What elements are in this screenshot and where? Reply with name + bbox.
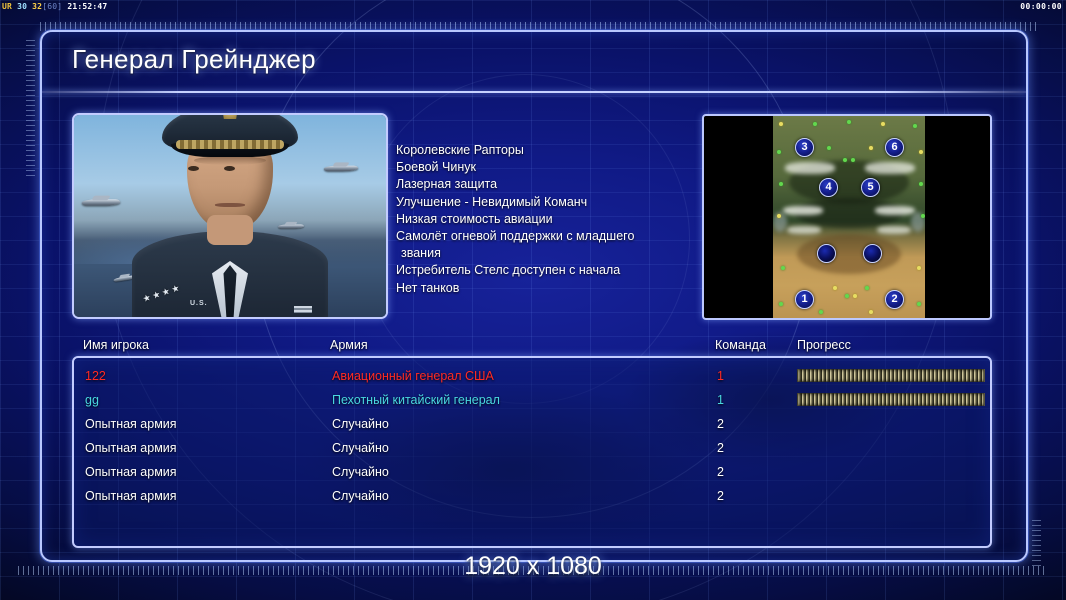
map-resource-dot [881,122,885,126]
map-terrain-image: 364512 [773,116,925,318]
map-start-position[interactable]: 6 [885,138,904,157]
column-header-player-name: Имя игрока [83,338,149,356]
ruler-left [26,40,35,180]
map-resource-dot [913,124,917,128]
table-row[interactable]: 122Авиационный генерал США1 [74,364,990,388]
table-row[interactable]: ggПехотный китайский генерал1 [74,388,990,412]
ability-line: Самолёт огневой поддержки с младшего [396,228,696,245]
map-resource-dot [813,122,817,126]
map-resource-dot [779,122,783,126]
map-terrain-zone [875,206,915,215]
map-resource-dot [833,286,837,290]
map-terrain-zone [865,162,915,174]
map-start-position[interactable] [863,244,882,263]
cell-player-name[interactable]: gg [85,388,99,412]
cell-team[interactable]: 2 [717,436,724,460]
map-resource-dot [827,146,831,150]
map-resource-dot [779,182,783,186]
map-start-position[interactable]: 5 [861,178,880,197]
ability-line: Боевой Чинук [396,159,696,176]
page-title: Генерал Грейнджер [72,44,316,75]
cell-army[interactable]: Авиационный генерал США [332,364,494,388]
cell-player-name[interactable]: Опытная армия [85,460,177,484]
column-header-progress: Прогресс [797,338,851,356]
map-resource-dot [845,294,849,298]
map-resource-dot [777,214,781,218]
map-resource-dot [919,182,923,186]
game-lobby-screen: UR 30 32[60] 21:52:47 00:00:00 Генерал Г… [0,0,1066,600]
cell-player-name[interactable]: Опытная армия [85,484,177,508]
system-status-bar: UR 30 32[60] 21:52:47 00:00:00 [0,0,1066,13]
map-terrain-zone [783,206,823,215]
map-resource-dot [819,310,823,314]
ruler-top [40,22,1040,31]
status-bar-left: UR 30 32[60] 21:52:47 [2,0,107,13]
cell-team[interactable]: 2 [717,460,724,484]
ability-line: Нет танков [396,280,696,297]
progress-bar [797,393,985,406]
map-resource-dot [917,266,921,270]
table-row[interactable]: Опытная армияСлучайно2 [74,412,990,436]
map-resource-dot [843,158,847,162]
column-header-team: Команда [715,338,766,356]
ability-line: Низкая стоимость авиации [396,211,696,228]
status-value-1: 30 [17,2,27,11]
cell-team[interactable]: 2 [717,412,724,436]
general-mouth [215,203,245,207]
map-start-position[interactable] [817,244,836,263]
column-header-army: Армия [330,338,368,356]
map-terrain-zone [785,162,835,174]
general-portrait-panel: ★★★★ U.S. [72,113,388,319]
us-collar-insignia: U.S. [190,300,208,307]
map-resource-dot [777,150,781,154]
status-label-ur: UR [2,2,12,11]
cell-army[interactable]: Случайно [332,436,389,460]
map-start-position[interactable]: 2 [885,290,904,309]
map-terrain-zone [797,234,901,274]
cell-army[interactable]: Случайно [332,412,389,436]
service-ribbon-icon [294,306,312,313]
cell-army[interactable]: Случайно [332,484,389,508]
cell-army[interactable]: Пехотный китайский генерал [332,388,500,412]
cell-team[interactable]: 1 [717,364,724,388]
ability-line: Истребитель Стелс доступен с начала [396,262,696,279]
match-timer: 00:00:00 [1020,0,1062,13]
map-resource-dot [869,146,873,150]
map-preview-panel[interactable]: 364512 [702,114,992,320]
ability-line: звания [396,245,696,262]
status-clock: 21:52:47 [67,2,107,11]
cell-army[interactable]: Случайно [332,460,389,484]
cell-team[interactable]: 1 [717,388,724,412]
player-list-panel: 122Авиационный генерал США1ggПехотный ки… [72,356,992,548]
map-resource-dot [851,158,855,162]
portrait-image: ★★★★ U.S. [74,115,386,317]
aircraft-icon [82,199,121,205]
status-value-2: 32 [32,2,42,11]
general-eye-left [188,166,199,171]
status-value-3: [60] [42,2,62,11]
resolution-caption: 1920 x 1080 [0,552,1066,581]
map-resource-dot [919,150,923,154]
ability-line: Лазерная защита [396,176,696,193]
general-neck [207,215,253,245]
ability-line: Улучшение - Невидимый Команч [396,194,696,211]
map-resource-dot [865,286,869,290]
map-resource-dot [917,302,921,306]
map-start-position[interactable]: 3 [795,138,814,157]
map-resource-dot [921,214,925,218]
general-figure: ★★★★ U.S. [132,123,328,317]
aircraft-icon [324,166,358,172]
map-resource-dot [781,266,785,270]
cell-team[interactable]: 2 [717,484,724,508]
map-resource-dot [779,302,783,306]
map-terrain-zone [787,226,821,234]
cell-player-name[interactable]: Опытная армия [85,436,177,460]
table-row[interactable]: Опытная армияСлучайно2 [74,460,990,484]
map-terrain-zone [877,226,911,234]
table-row[interactable]: Опытная армияСлучайно2 [74,436,990,460]
ability-line: Королевские Рапторы [396,142,696,159]
cell-player-name[interactable]: Опытная армия [85,412,177,436]
cap-scrambled-eggs [176,140,284,149]
general-ability-list: Королевские РапторыБоевой ЧинукЛазерная … [396,142,696,297]
general-brow [194,156,266,165]
map-resource-dot [869,310,873,314]
map-start-position[interactable]: 1 [795,290,814,309]
title-separator [42,91,1026,93]
table-row[interactable]: Опытная армияСлучайно2 [74,484,990,508]
map-resource-dot [847,120,851,124]
map-resource-dot [853,294,857,298]
map-start-position[interactable]: 4 [819,178,838,197]
general-eye-right [224,166,235,171]
progress-bar [797,369,985,382]
cell-player-name[interactable]: 122 [85,364,106,388]
